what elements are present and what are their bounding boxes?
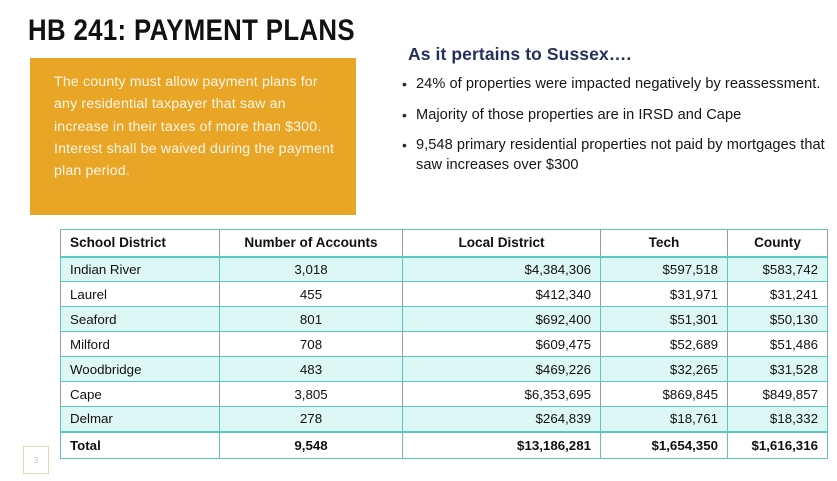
- column-header-number-of-accounts: Number of Accounts: [220, 230, 403, 257]
- cell-county: $51,486: [728, 332, 828, 357]
- cell-county: $849,857: [728, 382, 828, 407]
- cell-county: $31,528: [728, 357, 828, 382]
- cell-total-label: Total: [61, 432, 220, 459]
- cell-local: $609,475: [403, 332, 601, 357]
- cell-total-county: $1,616,316: [728, 432, 828, 459]
- cell-accounts: 3,018: [220, 257, 403, 282]
- cell-local: $264,839: [403, 407, 601, 432]
- cell-tech: $18,761: [601, 407, 728, 432]
- table-total-row: Total 9,548 $13,186,281 $1,654,350 $1,61…: [61, 432, 828, 459]
- slide-number: 3: [23, 446, 49, 474]
- right-column: As it pertains to Sussex…. • 24% of prop…: [400, 44, 830, 186]
- cell-district: Seaford: [61, 307, 220, 332]
- list-item: • 24% of properties were impacted negati…: [400, 75, 830, 95]
- cell-tech: $869,845: [601, 382, 728, 407]
- column-header-local-district: Local District: [403, 230, 601, 257]
- cell-local: $412,340: [403, 282, 601, 307]
- table-row: Delmar 278 $264,839 $18,761 $18,332: [61, 407, 828, 432]
- table-row: Seaford 801 $692,400 $51,301 $50,130: [61, 307, 828, 332]
- bullet-icon: •: [400, 106, 416, 125]
- cell-accounts: 708: [220, 332, 403, 357]
- table-row: Laurel 455 $412,340 $31,971 $31,241: [61, 282, 828, 307]
- cell-district: Cape: [61, 382, 220, 407]
- cell-district: Woodbridge: [61, 357, 220, 382]
- payment-plans-table: School District Number of Accounts Local…: [60, 229, 828, 459]
- cell-tech: $32,265: [601, 357, 728, 382]
- column-header-tech: Tech: [601, 230, 728, 257]
- section-heading: As it pertains to Sussex….: [408, 44, 830, 65]
- cell-district: Milford: [61, 332, 220, 357]
- cell-local: $4,384,306: [403, 257, 601, 282]
- bullet-icon: •: [400, 75, 416, 94]
- callout-text: The county must allow payment plans for …: [54, 71, 336, 182]
- callout-box: The county must allow payment plans for …: [30, 58, 356, 215]
- cell-local: $469,226: [403, 357, 601, 382]
- cell-county: $31,241: [728, 282, 828, 307]
- cell-tech: $31,971: [601, 282, 728, 307]
- cell-county: $583,742: [728, 257, 828, 282]
- table-row: Woodbridge 483 $469,226 $32,265 $31,528: [61, 357, 828, 382]
- bullet-icon: •: [400, 136, 416, 155]
- cell-accounts: 483: [220, 357, 403, 382]
- cell-district: Delmar: [61, 407, 220, 432]
- cell-district: Laurel: [61, 282, 220, 307]
- table-row: Milford 708 $609,475 $52,689 $51,486: [61, 332, 828, 357]
- page-title: HB 241: PAYMENT PLANS: [28, 14, 355, 48]
- cell-county: $50,130: [728, 307, 828, 332]
- list-item-label: 9,548 primary residential properties not…: [416, 136, 830, 175]
- cell-tech: $52,689: [601, 332, 728, 357]
- table-header-row: School District Number of Accounts Local…: [61, 230, 828, 257]
- cell-local: $692,400: [403, 307, 601, 332]
- cell-total-local: $13,186,281: [403, 432, 601, 459]
- cell-accounts: 801: [220, 307, 403, 332]
- column-header-county: County: [728, 230, 828, 257]
- cell-accounts: 3,805: [220, 382, 403, 407]
- cell-total-tech: $1,654,350: [601, 432, 728, 459]
- list-item: • Majority of those properties are in IR…: [400, 106, 830, 126]
- cell-total-accounts: 9,548: [220, 432, 403, 459]
- cell-tech: $51,301: [601, 307, 728, 332]
- cell-tech: $597,518: [601, 257, 728, 282]
- list-item-label: 24% of properties were impacted negative…: [416, 75, 830, 95]
- cell-accounts: 278: [220, 407, 403, 432]
- table-row: Indian River 3,018 $4,384,306 $597,518 $…: [61, 257, 828, 282]
- cell-accounts: 455: [220, 282, 403, 307]
- table-row: Cape 3,805 $6,353,695 $869,845 $849,857: [61, 382, 828, 407]
- column-header-school-district: School District: [61, 230, 220, 257]
- list-item: • 9,548 primary residential properties n…: [400, 136, 830, 175]
- list-item-label: Majority of those properties are in IRSD…: [416, 106, 830, 126]
- cell-district: Indian River: [61, 257, 220, 282]
- cell-county: $18,332: [728, 407, 828, 432]
- cell-local: $6,353,695: [403, 382, 601, 407]
